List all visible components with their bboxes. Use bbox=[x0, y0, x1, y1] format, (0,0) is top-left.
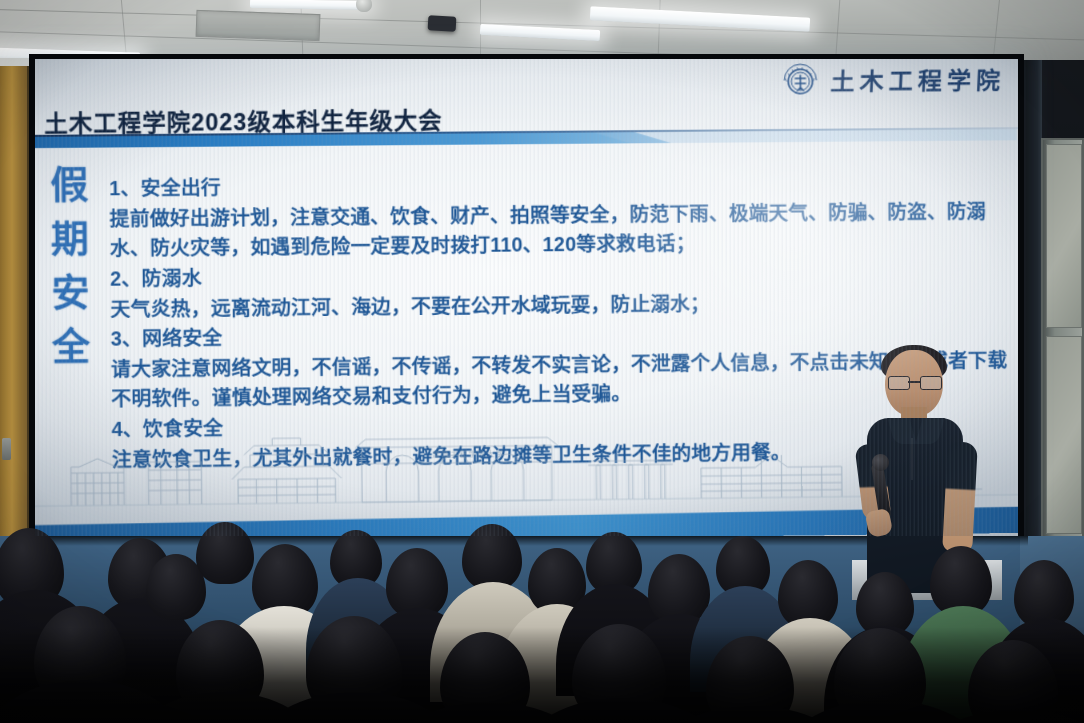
lecture-hall-scene: 土木工程学院 土木工程学院2023级本科生年级大会 假 期 安 全 1、安全出行 bbox=[0, 0, 1084, 723]
section-body: 提前做好出游计划，注意交通、饮食、财产、拍照等安全，防范下雨、极端天气、防骗、防… bbox=[109, 197, 1006, 265]
wall-recess bbox=[1026, 60, 1042, 540]
audience bbox=[0, 520, 1084, 723]
vertical-banner: 假 期 安 全 bbox=[42, 167, 99, 367]
audience-head bbox=[462, 524, 522, 590]
ceiling-light bbox=[480, 24, 600, 41]
ceiling-sensor-icon bbox=[428, 15, 457, 31]
banner-char: 假 bbox=[50, 167, 88, 205]
school-logo: 土木工程学院 bbox=[779, 59, 1005, 101]
window bbox=[1041, 138, 1084, 538]
wooden-door bbox=[0, 66, 30, 536]
glasses-icon bbox=[888, 376, 940, 389]
school-logo-text: 土木工程学院 bbox=[830, 60, 1006, 97]
door-handle[interactable] bbox=[2, 438, 11, 460]
ceiling-light bbox=[250, 0, 370, 10]
presenter-placket bbox=[911, 438, 913, 480]
audience-head bbox=[196, 522, 254, 584]
building-sign-text: 建筑工程学院大学 bbox=[432, 449, 505, 459]
school-seal-icon bbox=[779, 59, 822, 101]
ceiling-vent bbox=[196, 10, 321, 41]
banner-char: 安 bbox=[51, 275, 89, 313]
smoke-detector-icon bbox=[356, 0, 372, 12]
banner-char: 全 bbox=[52, 329, 90, 367]
banner-char: 期 bbox=[51, 221, 89, 259]
